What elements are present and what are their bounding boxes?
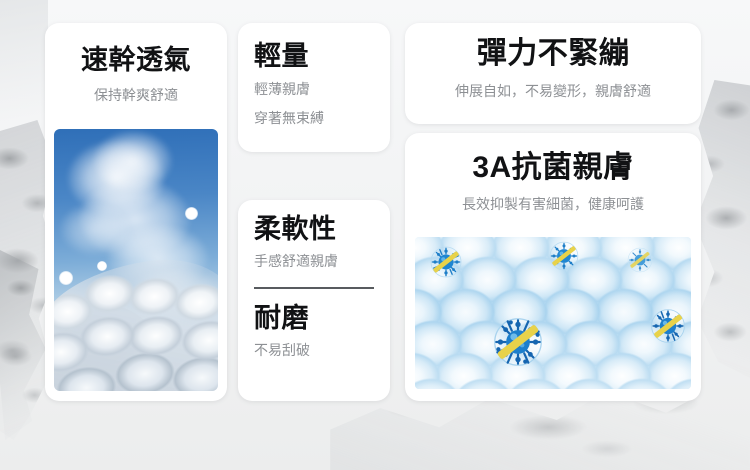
quick-dry-subtitle: 保持幹爽舒適 bbox=[45, 86, 227, 105]
antibacterial-title: 3A抗菌親膚 bbox=[405, 153, 701, 183]
feature-card-antibacterial: 3A抗菌親膚 長效抑製有害細菌，健康呵護 bbox=[405, 133, 701, 401]
antibacterial-subtitle: 長效抑製有害細菌，健康呵護 bbox=[405, 195, 701, 214]
quick-dry-title: 速幹透氣 bbox=[45, 47, 227, 74]
stone-texture-top-left bbox=[0, 0, 48, 140]
feature-card-quick-dry: 速幹透氣 保持幹爽舒適 bbox=[45, 23, 227, 401]
feature-card-softness-durability: 柔軟性 手感舒適親膚 耐磨 不易刮破 bbox=[238, 200, 390, 401]
steam-wisp bbox=[60, 203, 130, 255]
bokeh-dot bbox=[59, 271, 73, 285]
stretch-subtitle: 伸展自如，不易變形，親膚舒適 bbox=[405, 82, 701, 101]
infographic-stage: 速幹透氣 保持幹爽舒適 輕量 輕薄親膚 穿著無束縛 柔軟性 手感舒適親膚 耐磨 … bbox=[0, 0, 750, 470]
feature-card-stretch: 彈力不緊繃 伸展自如，不易變形，親膚舒適 bbox=[405, 23, 701, 124]
bokeh-dot bbox=[97, 261, 107, 271]
softness-subtitle: 手感舒適親膚 bbox=[254, 252, 390, 271]
card-divider bbox=[254, 287, 374, 289]
lightweight-subtitle-line1: 輕薄親膚 bbox=[254, 80, 390, 99]
durability-subtitle: 不易刮破 bbox=[254, 341, 390, 360]
durability-title: 耐磨 bbox=[254, 305, 390, 332]
feature-card-lightweight: 輕量 輕薄親膚 穿著無束縛 bbox=[238, 23, 390, 152]
blocked-germ-icon bbox=[627, 247, 653, 273]
blocked-germ-icon bbox=[493, 317, 543, 367]
blocked-germ-icon bbox=[430, 246, 463, 279]
antibacterial-photo bbox=[415, 237, 691, 389]
lightweight-title: 輕量 bbox=[254, 43, 390, 70]
quick-dry-photo bbox=[54, 129, 218, 391]
stretch-title: 彈力不緊繃 bbox=[405, 39, 701, 69]
blocked-germ-icon bbox=[549, 241, 579, 271]
blocked-germ-icon bbox=[650, 308, 686, 344]
quilted-fabric bbox=[54, 250, 218, 391]
softness-title: 柔軟性 bbox=[254, 216, 390, 243]
lightweight-subtitle-line2: 穿著無束縛 bbox=[254, 109, 390, 128]
bokeh-dot bbox=[185, 207, 198, 220]
